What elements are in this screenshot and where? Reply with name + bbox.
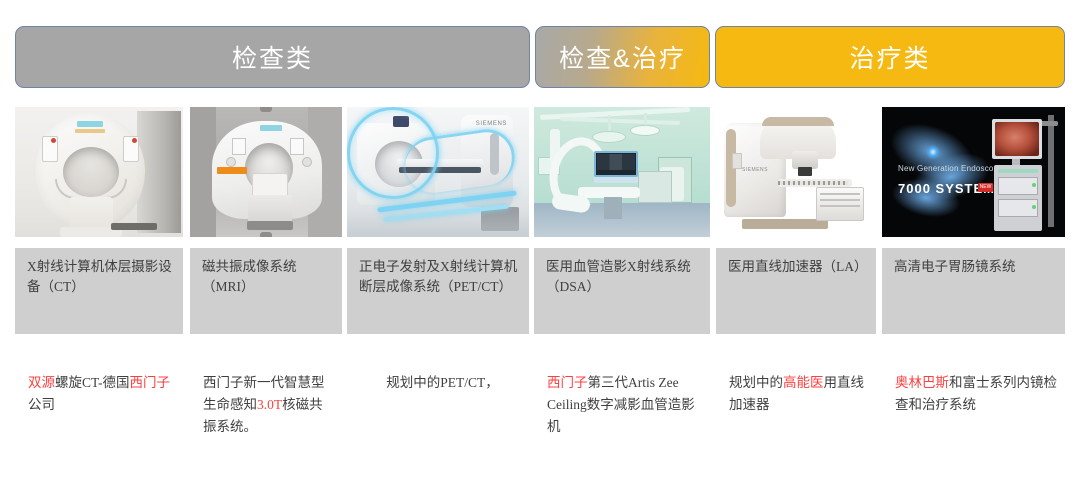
text-run-1: 3.0T	[257, 397, 282, 412]
text-run-1: 螺旋CT-德国	[55, 375, 130, 390]
caption-ct: X射线计算机体层摄影设备（CT）	[15, 248, 183, 334]
endoscope-new-badge: NEW	[978, 183, 993, 192]
slide-canvas: 检查类 检查&治疗 治疗类	[0, 0, 1080, 484]
caption-endoscope: 高清电子胃肠镜系统	[882, 248, 1065, 334]
text-run-0: 西门子	[547, 375, 588, 390]
caption-mri: 磁共振成像系统（MRI）	[190, 248, 342, 334]
dsa-angiography-room-photo	[534, 107, 710, 237]
caption-pet-ct: 正电子发射及X射线计算机断层成像系统（PET/CT）	[347, 248, 529, 334]
description-pet-ct: 规划中的PET/CT，	[360, 372, 525, 394]
text-run-0: 双源	[28, 375, 55, 390]
endoscope-system-photo: New Generation Endoscope System 7000 SYS…	[882, 107, 1065, 237]
caption-dsa: 医用血管造影X射线系统（DSA）	[534, 248, 710, 334]
text-run-2: 西门子	[130, 375, 171, 390]
description-la: 规划中的高能医用直线加速器	[729, 372, 871, 416]
linear-accelerator-photo: SIEMENS	[716, 107, 876, 237]
header-examination: 检查类	[15, 26, 530, 88]
header-examination-label: 检查类	[232, 39, 313, 75]
siemens-logo-la: SIEMENS	[742, 167, 768, 173]
description-ct: 双源螺旋CT-德国西门子公司	[28, 372, 178, 416]
text-run-0: 规划中的PET/CT，	[386, 375, 499, 390]
text-run-0: 奥林巴斯	[895, 375, 949, 390]
ct-scanner-photo	[15, 107, 183, 237]
text-run-1: 高能医	[783, 375, 824, 390]
siemens-logo-pet: SIEMENS	[476, 121, 507, 127]
header-treatment-label: 治疗类	[849, 39, 930, 75]
header-treatment: 治疗类	[715, 26, 1065, 88]
header-exam-and-treatment-label: 检查&治疗	[559, 39, 686, 75]
description-dsa: 西门子第三代Artis Zee Ceiling数字减影血管造影机	[547, 372, 707, 438]
text-run-0: 规划中的	[729, 375, 783, 390]
caption-la: 医用直线加速器（LA）	[716, 248, 876, 334]
description-endoscope: 奥林巴斯和富士系列内镜检查和治疗系统	[895, 372, 1060, 416]
header-exam-and-treatment: 检查&治疗	[535, 26, 710, 88]
pet-ct-scanner-photo: SIEMENS	[347, 107, 529, 237]
text-run-3: 公司	[28, 397, 55, 412]
mri-scanner-photo	[190, 107, 342, 237]
description-mri: 西门子新一代智慧型生命感知3.0T核磁共振系统。	[203, 372, 333, 438]
